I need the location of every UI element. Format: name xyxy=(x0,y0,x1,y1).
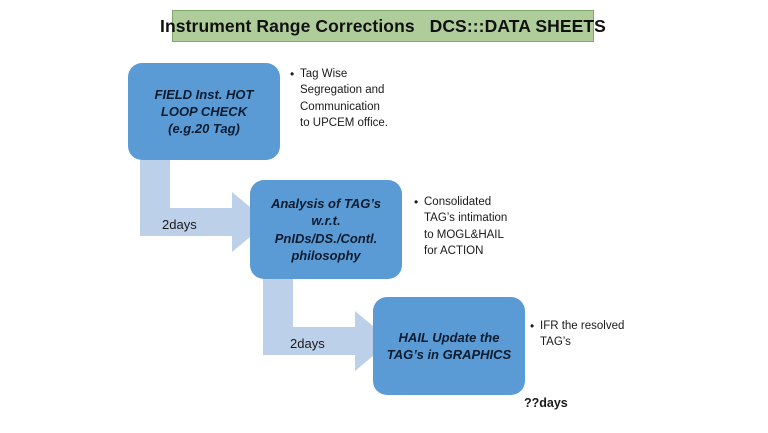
note-block-step-3: IFR the resolved TAG’s xyxy=(520,318,650,351)
note-block-step-2: Consolidated TAG’s intimation to MOGL&HA… xyxy=(404,194,530,259)
tail-duration-label: ??days xyxy=(524,396,568,410)
note-item: Consolidated TAG’s intimation to MOGL&HA… xyxy=(415,194,530,259)
flowchart-canvas: Instrument Range Corrections DCS:::DATA … xyxy=(0,0,768,433)
page-title: Instrument Range Corrections DCS:::DATA … xyxy=(172,10,594,42)
process-box-analysis-of-tags[interactable]: Analysis of TAG’s w.r.t. PnIDs/DS./Contl… xyxy=(250,180,402,279)
connector-2-label: 2days xyxy=(290,336,325,351)
note-item: Tag Wise Segregation and Communication t… xyxy=(291,66,402,131)
connector-1-label: 2days xyxy=(162,217,197,232)
connector-2-arrow xyxy=(263,279,391,371)
note-block-step-1: Tag Wise Segregation and Communication t… xyxy=(280,66,402,131)
note-item: IFR the resolved TAG’s xyxy=(531,318,650,351)
process-box-hail-update-graphics[interactable]: HAIL Update the TAG’s in GRAPHICS xyxy=(373,297,525,395)
connector-1-arrow xyxy=(140,160,268,252)
process-box-field-hot-loop-check[interactable]: FIELD Inst. HOT LOOP CHECK (e.g.20 Tag) xyxy=(128,63,280,160)
